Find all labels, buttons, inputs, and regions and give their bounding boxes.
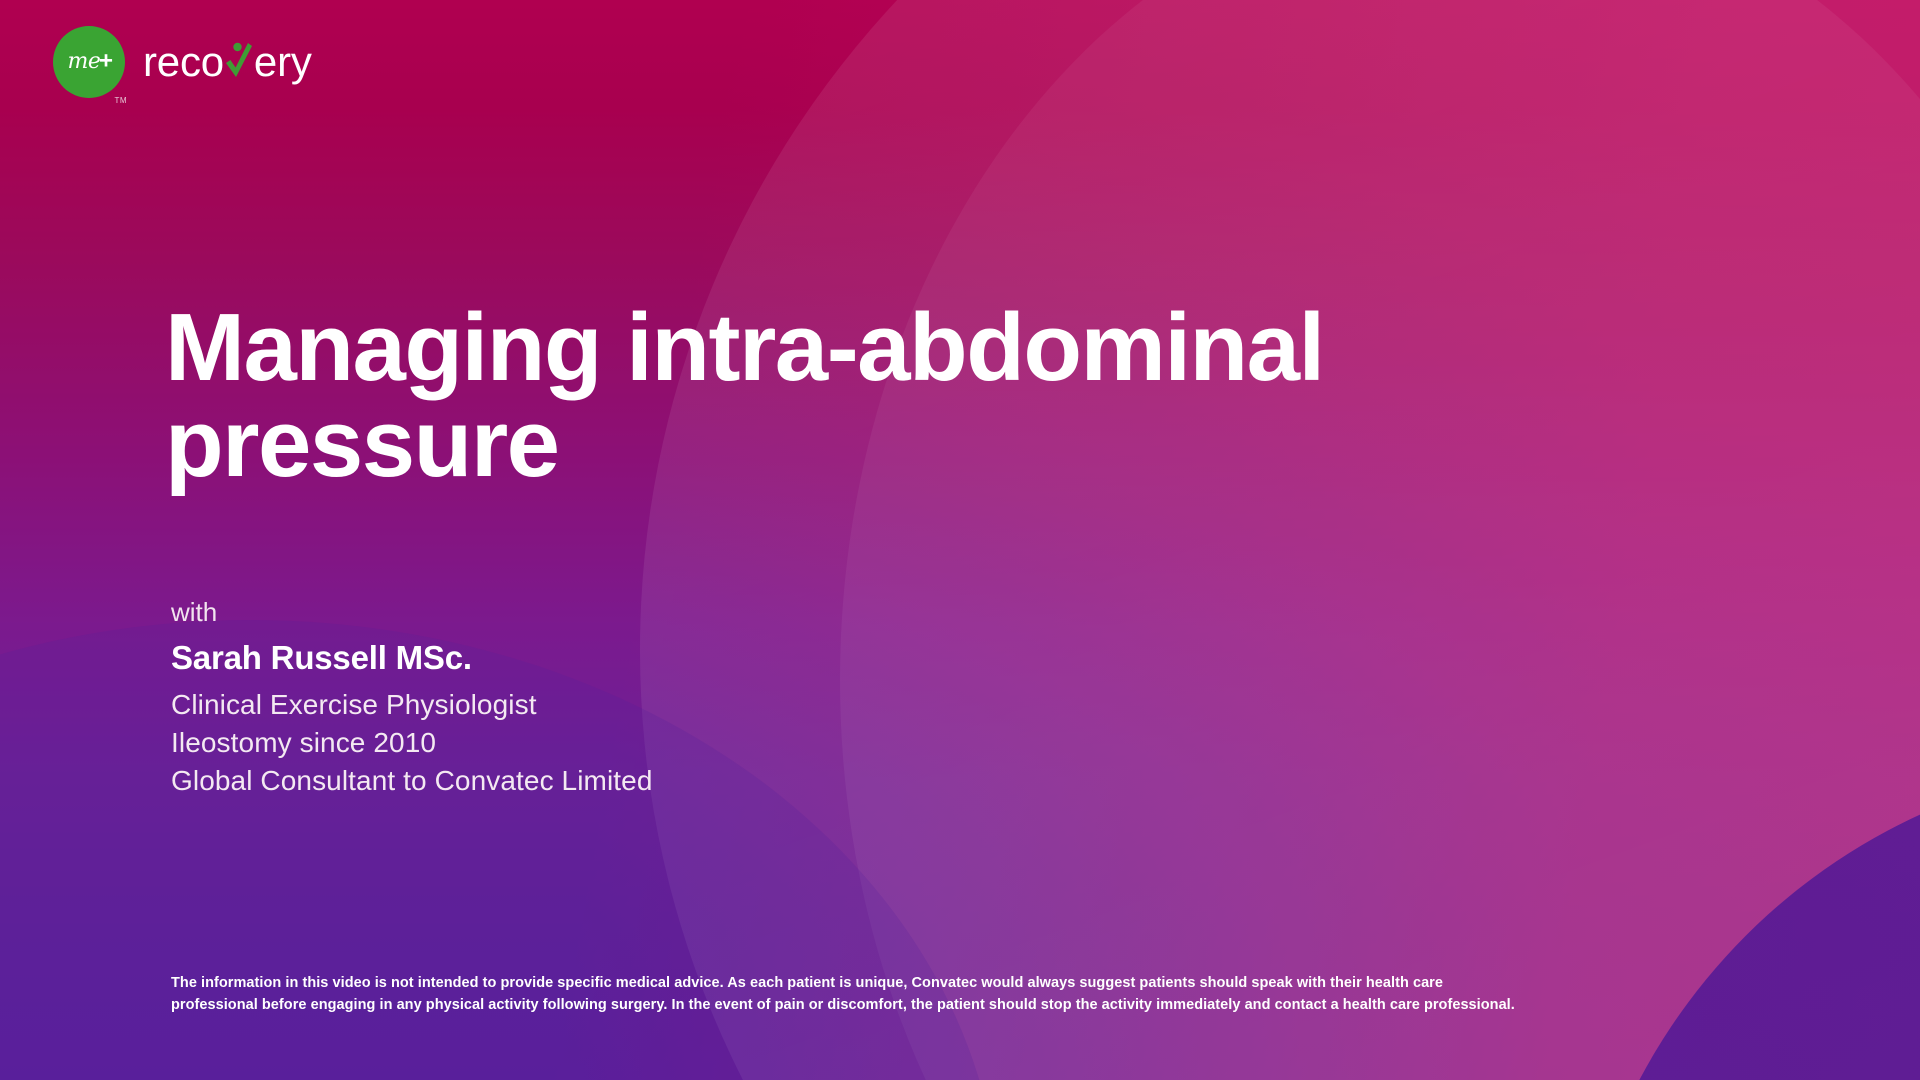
disclaimer-line-2: professional before engaging in any phys… <box>171 994 1591 1016</box>
presenter-credentials: Clinical Exercise Physiologist Ileostomy… <box>171 686 653 800</box>
brand-wordmark: recoery <box>143 41 312 83</box>
wordmark-part-one: reco <box>143 41 224 83</box>
title-line-2: pressure <box>165 396 1565 492</box>
decorative-dark-corner-circle <box>1570 760 1920 1080</box>
decorative-light-ellipse <box>640 0 1920 1080</box>
page-title: Managing intra-abdominal pressure <box>165 300 1565 492</box>
title-slide: me + TM recoery Managing intra-abdominal… <box>0 0 1920 1080</box>
credential-line: Ileostomy since 2010 <box>171 724 653 762</box>
medical-disclaimer: The information in this video is not int… <box>171 972 1591 1016</box>
credential-line: Clinical Exercise Physiologist <box>171 686 653 724</box>
credential-line: Global Consultant to Convatec Limited <box>171 762 653 800</box>
decorative-inner-lobe <box>840 0 1920 1080</box>
me-plus-circle-icon: me + TM <box>53 26 125 98</box>
trademark-icon: TM <box>114 96 127 105</box>
disclaimer-line-1: The information in this video is not int… <box>171 972 1591 994</box>
plus-icon: + <box>99 50 113 74</box>
presenter-with-label: with <box>171 595 653 630</box>
background-gradient-wash <box>0 0 1920 1080</box>
brand-logo: me + TM recoery <box>53 25 312 99</box>
presenter-block: with Sarah Russell MSc. Clinical Exercis… <box>171 595 653 800</box>
title-line-1: Managing intra-abdominal <box>165 300 1565 396</box>
wordmark-part-two: ery <box>254 41 312 83</box>
presenter-name: Sarah Russell MSc. <box>171 634 653 682</box>
logo-mark-label: me <box>68 49 101 74</box>
green-check-icon <box>224 41 254 83</box>
